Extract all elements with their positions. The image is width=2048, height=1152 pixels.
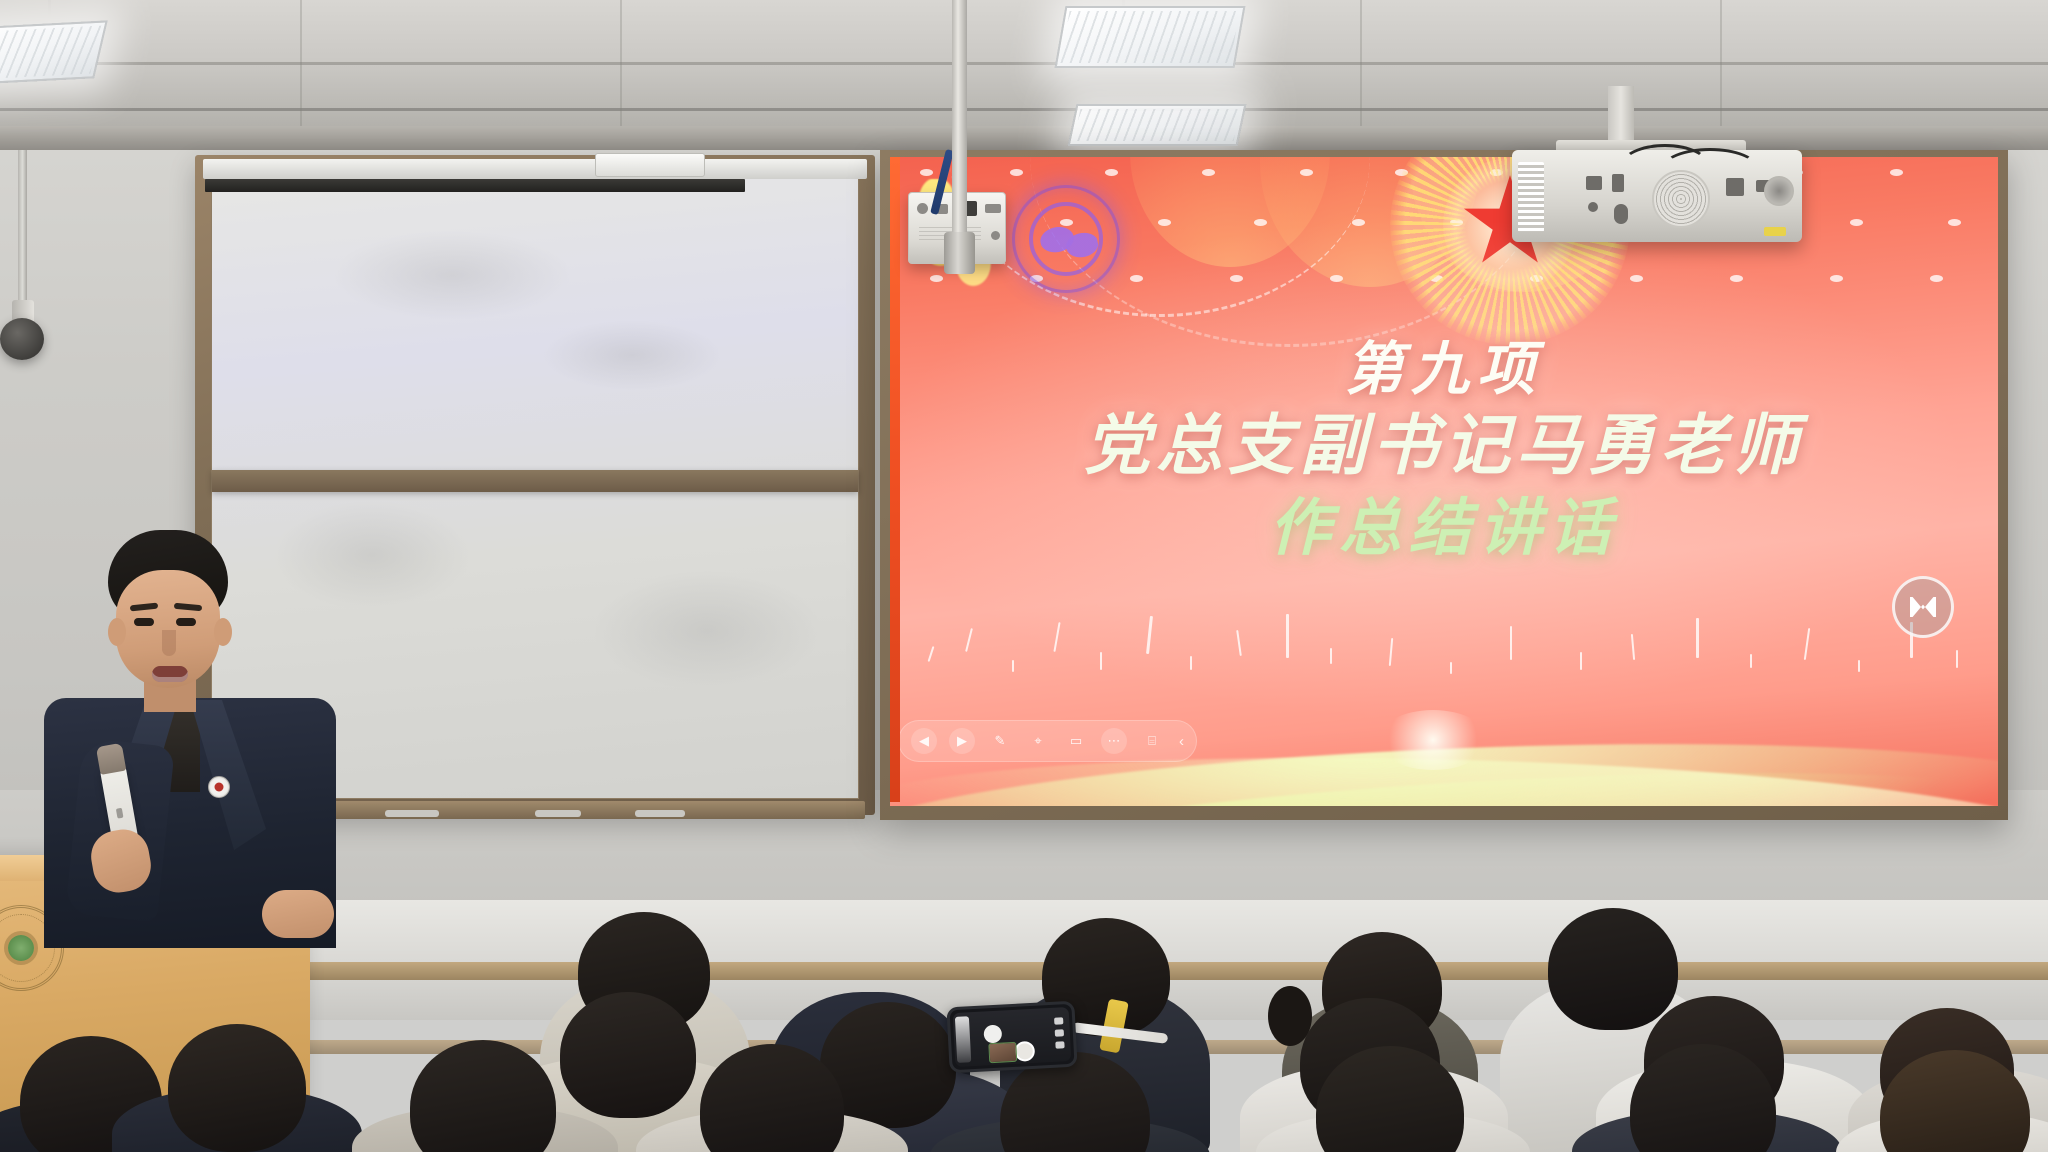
audience-head xyxy=(560,992,696,1118)
panel-light-right xyxy=(1068,104,1247,146)
whiteboard-sensor-module xyxy=(595,153,705,177)
screen-left-edge-accent xyxy=(890,157,900,802)
camera-record-icon[interactable] xyxy=(1014,1041,1035,1062)
whiteboard-top-strip xyxy=(205,179,745,192)
whiteboard-divider xyxy=(212,470,858,492)
more-options-icon[interactable]: ⋯ xyxy=(1101,728,1127,754)
presenter-view-icon[interactable]: ⌸ xyxy=(1139,728,1165,754)
ceiling-projector xyxy=(1512,150,1802,242)
lecture-hall-photo: 第九项 党总支副书记马勇老师 作总结讲话 xyxy=(0,0,2048,1152)
projection-screen-frame: 第九项 党总支副书记马勇老师 作总结讲话 xyxy=(880,150,2008,820)
whiteboard-top-rail xyxy=(203,159,867,179)
phone-ui-strip xyxy=(955,1016,971,1063)
ceiling-seam xyxy=(0,108,2048,111)
projected-slide[interactable]: 第九项 党总支副书记马勇老师 作总结讲话 xyxy=(890,157,1998,806)
ceiling-panel-line xyxy=(620,0,622,128)
presenter-ear xyxy=(214,618,232,646)
pen-annotation-icon[interactable]: ✎ xyxy=(987,728,1013,754)
slide-title-line-1: 第九项 xyxy=(890,335,1998,403)
slide-title-line-3: 作总结讲话 xyxy=(890,491,1998,564)
presenter-eye xyxy=(134,618,154,626)
laser-pointer-icon[interactable]: ⌖ xyxy=(1025,728,1051,754)
wps-logo-button[interactable] xyxy=(1892,576,1954,638)
presenter-mouth xyxy=(152,666,188,682)
presenter-nose xyxy=(162,630,176,656)
school-emblem-icon xyxy=(1012,185,1120,293)
ceiling-panel-line xyxy=(1720,0,1722,128)
screen-options-icon[interactable]: ▭ xyxy=(1063,728,1089,754)
ceiling-seam xyxy=(0,62,2048,65)
camera-thumbnail[interactable] xyxy=(988,1042,1017,1063)
ceiling-panel-line xyxy=(300,0,302,128)
wall-camera-icon xyxy=(0,318,44,360)
microphone-indicator xyxy=(116,808,124,819)
projector-vent xyxy=(1518,162,1544,232)
panel-light-center xyxy=(1055,6,1246,68)
projector-lens-icon xyxy=(1764,176,1794,206)
presenter-ear xyxy=(108,618,126,646)
presentation-toolbar[interactable]: ◀ ▶ ✎ ⌖ ▭ ⋯ ⌸ ‹ xyxy=(898,720,1197,762)
pipe-head xyxy=(944,232,975,274)
camera-shutter-icon[interactable] xyxy=(983,1025,1002,1044)
slide-title-line-2: 党总支副书记马勇老师 xyxy=(890,407,1998,485)
previous-slide-icon[interactable]: ◀ xyxy=(911,728,937,754)
smartphone-recording[interactable] xyxy=(946,1001,1077,1074)
panel-light-left xyxy=(0,20,108,85)
camera-mode-icons xyxy=(1054,1017,1065,1048)
presenter-eye xyxy=(176,618,196,626)
collapse-toolbar-icon[interactable]: ‹ xyxy=(1179,733,1184,750)
audience-head xyxy=(168,1024,306,1152)
party-emblem-lapel-pin-icon xyxy=(208,776,230,798)
slide-title-block: 第九项 党总支副书记马勇老师 作总结讲话 xyxy=(890,335,1998,564)
audience-head xyxy=(1548,908,1678,1030)
light-hanger xyxy=(48,0,51,26)
audience-head xyxy=(410,1040,556,1152)
microphone-head xyxy=(96,743,126,775)
phone-camera-screen[interactable] xyxy=(953,1007,1072,1067)
ceiling-drop-pipe xyxy=(952,0,967,248)
ceiling-panel-line xyxy=(1360,0,1362,128)
wps-logo-icon xyxy=(1910,597,1936,617)
projector-yellow-connector xyxy=(1764,227,1786,236)
next-slide-icon[interactable]: ▶ xyxy=(949,728,975,754)
